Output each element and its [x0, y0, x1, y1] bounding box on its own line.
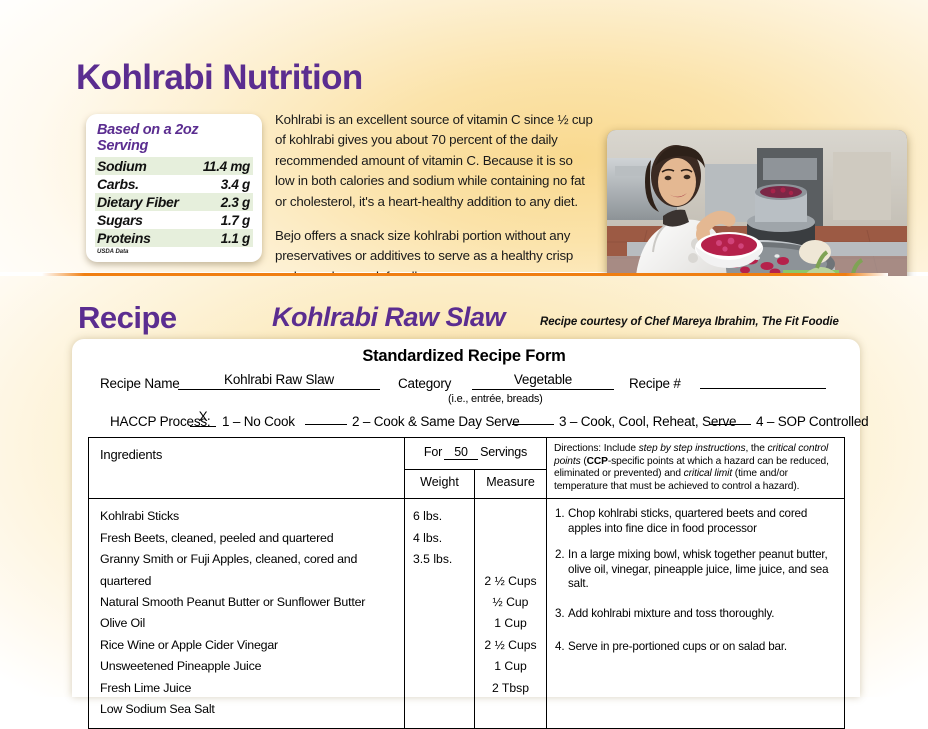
- nutrition-value: 3.4 g: [221, 177, 250, 192]
- directions-head-p1: Directions: Include: [554, 443, 639, 454]
- recipe-number-label: Recipe #: [629, 376, 681, 391]
- recipe-credit: Recipe courtesy of Chef Mareya Ibrahim, …: [540, 316, 839, 328]
- list-item: Natural Smooth Peanut Butter or Sunflowe…: [100, 592, 404, 613]
- nutrition-value: 11.4 mg: [203, 159, 250, 174]
- list-item: Olive Oil: [100, 613, 404, 634]
- list-item: Fresh Beets, cleaned, peeled and quarter…: [100, 528, 404, 549]
- direction-step: 3. Add kohlrabi mixture and toss thoroug…: [555, 607, 836, 621]
- form-heading: Standardized Recipe Form: [0, 347, 928, 366]
- haccp-option-1-label: 1 – No Cook: [222, 414, 295, 429]
- step-number: 4.: [555, 640, 568, 654]
- recipe-name-field[interactable]: Kohlrabi Raw Slaw: [178, 372, 380, 390]
- nutrition-row: Proteins 1.1 g: [95, 229, 253, 247]
- directions-head-b1: CCP: [587, 456, 608, 467]
- nutrition-row: Dietary Fiber 2.3 g: [95, 193, 253, 211]
- nutrition-label: Carbs.: [97, 176, 139, 192]
- category-label: Category: [398, 376, 451, 391]
- measure-header: Measure: [475, 469, 547, 499]
- directions-cell: 1. Chop kohlrabi sticks, quartered beets…: [547, 499, 845, 729]
- step-text: Serve in pre-portioned cups or on salad …: [568, 640, 836, 654]
- page-title: Kohlrabi Nutrition: [76, 58, 363, 98]
- recipe-section-title: Recipe: [78, 300, 177, 336]
- step-number: 3.: [555, 607, 568, 621]
- list-item: Unsweetened Pineapple Juice: [100, 656, 404, 677]
- recipe-table: Ingredients For50Servings Directions: In…: [88, 437, 845, 729]
- measure-value: 2 ½ Cups: [475, 635, 546, 656]
- nutrition-card-heading: Based on a 2oz Serving: [97, 122, 253, 154]
- nutrition-facts-card: Based on a 2oz Serving Sodium 11.4 mg Ca…: [86, 114, 262, 262]
- nutrition-row: Carbs. 3.4 g: [95, 175, 253, 193]
- step-text: In a large mixing bowl, whisk together p…: [568, 548, 836, 591]
- usda-source-note: USDA Data: [97, 249, 253, 255]
- nutrition-section: Kohlrabi Nutrition Based on a 2oz Servin…: [0, 0, 928, 272]
- list-item: Kohlrabi Sticks: [100, 506, 404, 527]
- measure-value: 2 ½ Cups: [475, 571, 546, 592]
- list-item: Granny Smith or Fuji Apples, cleaned, co…: [100, 549, 404, 592]
- directions-header: Directions: Include step by step instruc…: [547, 438, 845, 499]
- list-item: Fresh Lime Juice: [100, 678, 404, 699]
- list-item: Rice Wine or Apple Cider Vinegar: [100, 635, 404, 656]
- step-number: 1.: [555, 507, 568, 536]
- category-hint: (i.e., entrée, breads): [448, 393, 543, 405]
- nutrition-value: 1.7 g: [221, 213, 250, 228]
- haccp-option-4-checkbox[interactable]: [709, 409, 751, 425]
- weight-cell: 6 lbs. 4 lbs. 3.5 lbs.: [405, 499, 475, 729]
- table-header-row: Ingredients For50Servings Directions: In…: [89, 438, 845, 470]
- nutrition-value: 2.3 g: [221, 195, 250, 210]
- ingredients-cell: Kohlrabi Sticks Fresh Beets, cleaned, pe…: [89, 499, 405, 729]
- measure-cell: 2 ½ Cups ½ Cup 1 Cup 2 ½ Cups 1 Cup 2 Tb…: [475, 499, 547, 729]
- directions-head-p2: , the: [745, 443, 767, 454]
- nutrition-label: Dietary Fiber: [97, 194, 179, 210]
- step-text: Chop kohlrabi sticks, quartered beets an…: [568, 507, 836, 536]
- nutrition-row: Sugars 1.7 g: [95, 211, 253, 229]
- nutrition-paragraph-1: Kohlrabi is an excellent source of vitam…: [275, 110, 593, 212]
- haccp-option-2-checkbox[interactable]: [305, 409, 347, 425]
- recipe-dish-name: Kohlrabi Raw Slaw: [272, 302, 505, 333]
- measure-value: ½ Cup: [475, 592, 546, 613]
- nutrition-label: Proteins: [97, 230, 151, 246]
- haccp-option-2-label: 2 – Cook & Same Day Serve: [352, 414, 520, 429]
- direction-step: 1. Chop kohlrabi sticks, quartered beets…: [555, 507, 836, 536]
- step-number: 2.: [555, 548, 568, 591]
- nutrition-row: Sodium 11.4 mg: [95, 157, 253, 175]
- list-item: Low Sodium Sea Salt: [100, 699, 404, 720]
- measure-value: 2 Tbsp: [475, 678, 546, 699]
- directions-head-i3: critical limit: [684, 468, 732, 479]
- servings-suffix: Servings: [480, 445, 527, 459]
- step-text: Add kohlrabi mixture and toss thoroughly…: [568, 607, 836, 621]
- servings-header: For50Servings: [405, 438, 547, 470]
- direction-step: 4. Serve in pre-portioned cups or on sal…: [555, 640, 836, 654]
- directions-head-i1: step by step instructions: [639, 443, 746, 454]
- nutrition-label: Sugars: [97, 212, 143, 228]
- recipe-number-field[interactable]: [700, 372, 826, 389]
- weight-value: 4 lbs.: [413, 528, 474, 549]
- table-body-row: Kohlrabi Sticks Fresh Beets, cleaned, pe…: [89, 499, 845, 729]
- weight-value: 3.5 lbs.: [413, 549, 474, 570]
- measure-value: 1 Cup: [475, 656, 546, 677]
- weight-value: 6 lbs.: [413, 506, 474, 527]
- recipe-name-label: Recipe Name: [100, 376, 180, 391]
- haccp-option-1-checkbox[interactable]: X: [190, 409, 216, 427]
- nutrition-label: Sodium: [97, 158, 147, 174]
- servings-value[interactable]: 50: [444, 445, 478, 460]
- weight-header: Weight: [405, 469, 475, 499]
- nutrition-value: 1.1 g: [221, 231, 250, 246]
- category-field[interactable]: Vegetable: [472, 372, 614, 390]
- haccp-option-3-checkbox[interactable]: [512, 409, 554, 425]
- direction-step: 2. In a large mixing bowl, whisk togethe…: [555, 548, 836, 591]
- ingredients-header: Ingredients: [89, 438, 405, 499]
- servings-prefix: For: [424, 445, 442, 459]
- measure-value: 1 Cup: [475, 613, 546, 634]
- haccp-option-4-label: 4 – SOP Controlled: [756, 414, 868, 429]
